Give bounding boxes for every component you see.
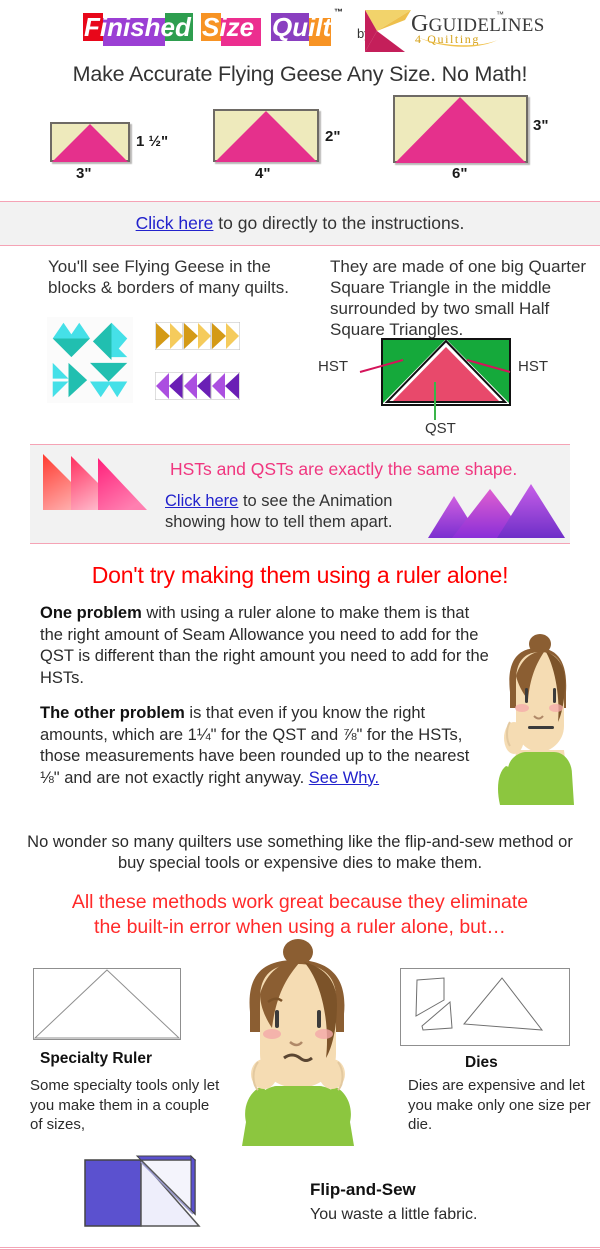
animation-rest-line2: showing how to tell them apart.: [165, 513, 392, 531]
trademark-symbol: ™: [334, 8, 343, 17]
finished-size-quilting-logo[interactable]: Finished Size Quilting ™: [83, 10, 343, 48]
specialty-ruler-title: Specialty Ruler: [40, 1050, 152, 1068]
goose-sample-small: [50, 122, 130, 162]
instructions-band-text: Click here to go directly to the instruc…: [136, 213, 465, 233]
site-header: Finished Size Quilting ™ by GGUIDELINES …: [0, 0, 600, 56]
goose-triangle: [215, 111, 317, 162]
goose-triangle: [52, 124, 128, 162]
dies-title: Dies: [465, 1054, 498, 1072]
diagram-leader-lines: [355, 352, 515, 432]
flip-and-sew-graphic: [83, 1138, 203, 1230]
flip-and-sew-body: You waste a little fabric.: [310, 1205, 590, 1225]
guidelines-triangle-icon: [365, 10, 411, 52]
same-shape-headline: HSTs and QSTs are exactly the same shape…: [170, 459, 517, 480]
svg-text:Quilting: Quilting: [272, 12, 333, 42]
pinwheel-quilt-block: [47, 317, 133, 403]
methods-headline-line1: All these methods work great because the…: [72, 891, 528, 913]
animation-link[interactable]: Click here: [165, 492, 238, 510]
purple-border-strip: [155, 372, 240, 400]
animation-link-text: Click here to see the Animation showing …: [165, 491, 392, 533]
guidelines-trademark: ™: [496, 10, 504, 19]
goose-medium-width-label: 4": [255, 165, 270, 182]
qst-triangles-graphic: [428, 483, 566, 539]
goose-small-height-label: 1 ½": [136, 133, 168, 150]
page-headline: Make Accurate Flying Geese Any Size. No …: [0, 56, 600, 87]
info-left-text: You'll see Flying Geese in the blocks & …: [48, 256, 298, 298]
animation-rest-line1: to see the Animation: [238, 492, 392, 510]
dies-body: Dies are expensive and let you make only…: [408, 1076, 593, 1135]
goose-small-width-label: 3": [76, 165, 91, 182]
instructions-band: Click here to go directly to the instruc…: [0, 201, 600, 246]
guidelines-swoosh-icon: [413, 34, 503, 50]
specialty-ruler-graphic: [33, 968, 181, 1040]
hst-triangles-graphic: [42, 453, 147, 511]
info-right-text: They are made of one big Quarter Square …: [330, 256, 590, 340]
goose-medium-height-label: 2": [325, 128, 340, 145]
no-wonder-paragraph: No wonder so many quilters use something…: [26, 832, 574, 874]
goose-triangle: [395, 97, 526, 163]
svg-text:Size: Size: [202, 12, 254, 42]
goose-large-height-label: 3": [533, 117, 548, 134]
flip-and-sew-title: Flip-and-Sew: [310, 1180, 416, 1200]
goose-large-width-label: 6": [452, 165, 467, 182]
gold-border-strip: [155, 322, 240, 350]
page-root: Finished Size Quilting ™ by GGUIDELINES …: [0, 0, 600, 1250]
hst-label-left: HST: [318, 358, 348, 375]
methods-headline: All these methods work great because the…: [20, 890, 580, 940]
problem-paragraph-1: One problem with using a ruler alone to …: [40, 603, 490, 689]
fsq-logo-graphic: Finished Size Quilting: [83, 10, 333, 48]
goose-sample-large: [393, 95, 528, 163]
dies-graphic: [400, 968, 570, 1046]
svg-text:Finished: Finished: [84, 12, 192, 42]
problem-1-bold: One problem: [40, 604, 142, 622]
specialty-ruler-body: Some specialty tools only let you make t…: [30, 1076, 225, 1135]
instructions-link[interactable]: Click here: [136, 213, 214, 233]
ruler-warning-title: Don't try making them using a ruler alon…: [0, 562, 600, 589]
methods-headline-line2: the built-in error when using a ruler al…: [94, 916, 506, 938]
problem-paragraph-2: The other problem is that even if you kn…: [40, 703, 490, 789]
guidelines4quilting-logo[interactable]: GGUIDELINES ™ 4 Quilting: [365, 10, 515, 52]
same-shape-band: HSTs and QSTs are exactly the same shape…: [30, 444, 570, 544]
cartoon-woman-worried: [228, 936, 368, 1146]
goose-sample-medium: [213, 109, 319, 162]
problem-2-bold: The other problem: [40, 704, 185, 722]
flying-geese-size-examples: 1 ½" 3" 2" 4" 3" 6": [0, 95, 600, 195]
see-why-link[interactable]: See Why.: [309, 769, 379, 787]
cartoon-woman-thinking: [492, 630, 582, 805]
hst-label-right: HST: [518, 358, 548, 375]
instructions-band-rest: to go directly to the instructions.: [213, 213, 464, 233]
